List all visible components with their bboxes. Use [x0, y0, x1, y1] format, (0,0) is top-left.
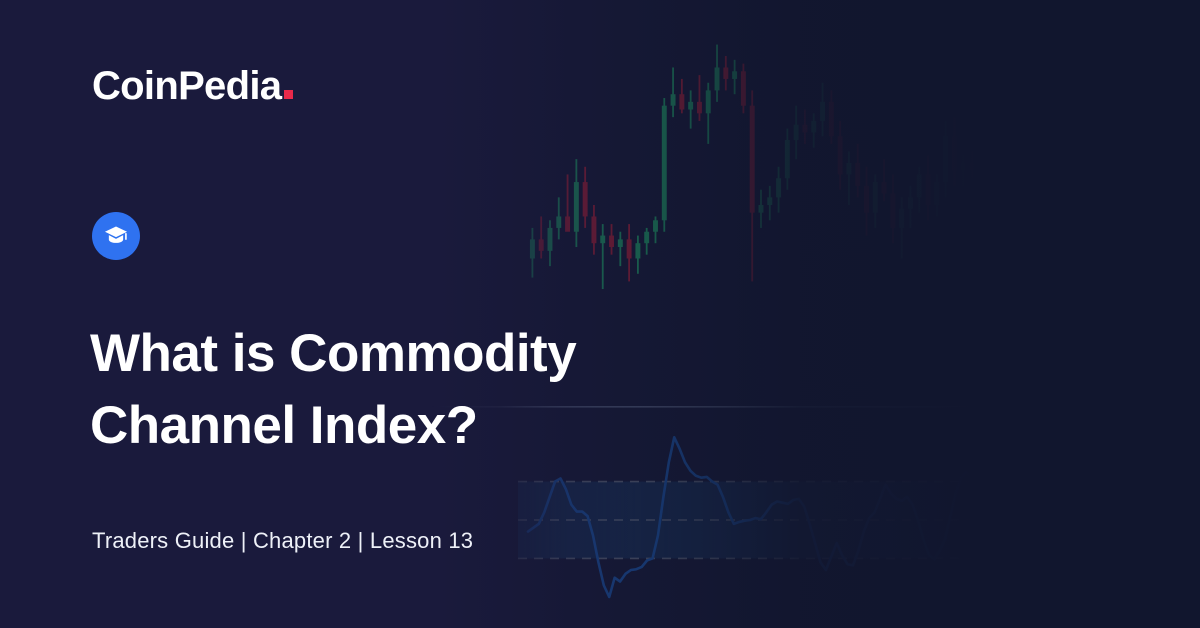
page-title-line-2: Channel Index?	[90, 390, 790, 462]
brand-logo[interactable]: CoinPedia	[92, 66, 293, 106]
lesson-breadcrumb: Traders Guide | Chapter 2 | Lesson 13	[92, 528, 473, 554]
page-title: What is Commodity Channel Index?	[90, 318, 790, 462]
graduation-cap-icon	[103, 223, 129, 249]
social-card: CoinPedia What is Commodity Channel Inde…	[0, 0, 1200, 628]
page-title-line-1: What is Commodity	[90, 324, 576, 383]
brand-logo-text: CoinPedia	[92, 64, 281, 108]
brand-logo-dot	[284, 90, 293, 99]
lesson-badge	[92, 212, 140, 260]
